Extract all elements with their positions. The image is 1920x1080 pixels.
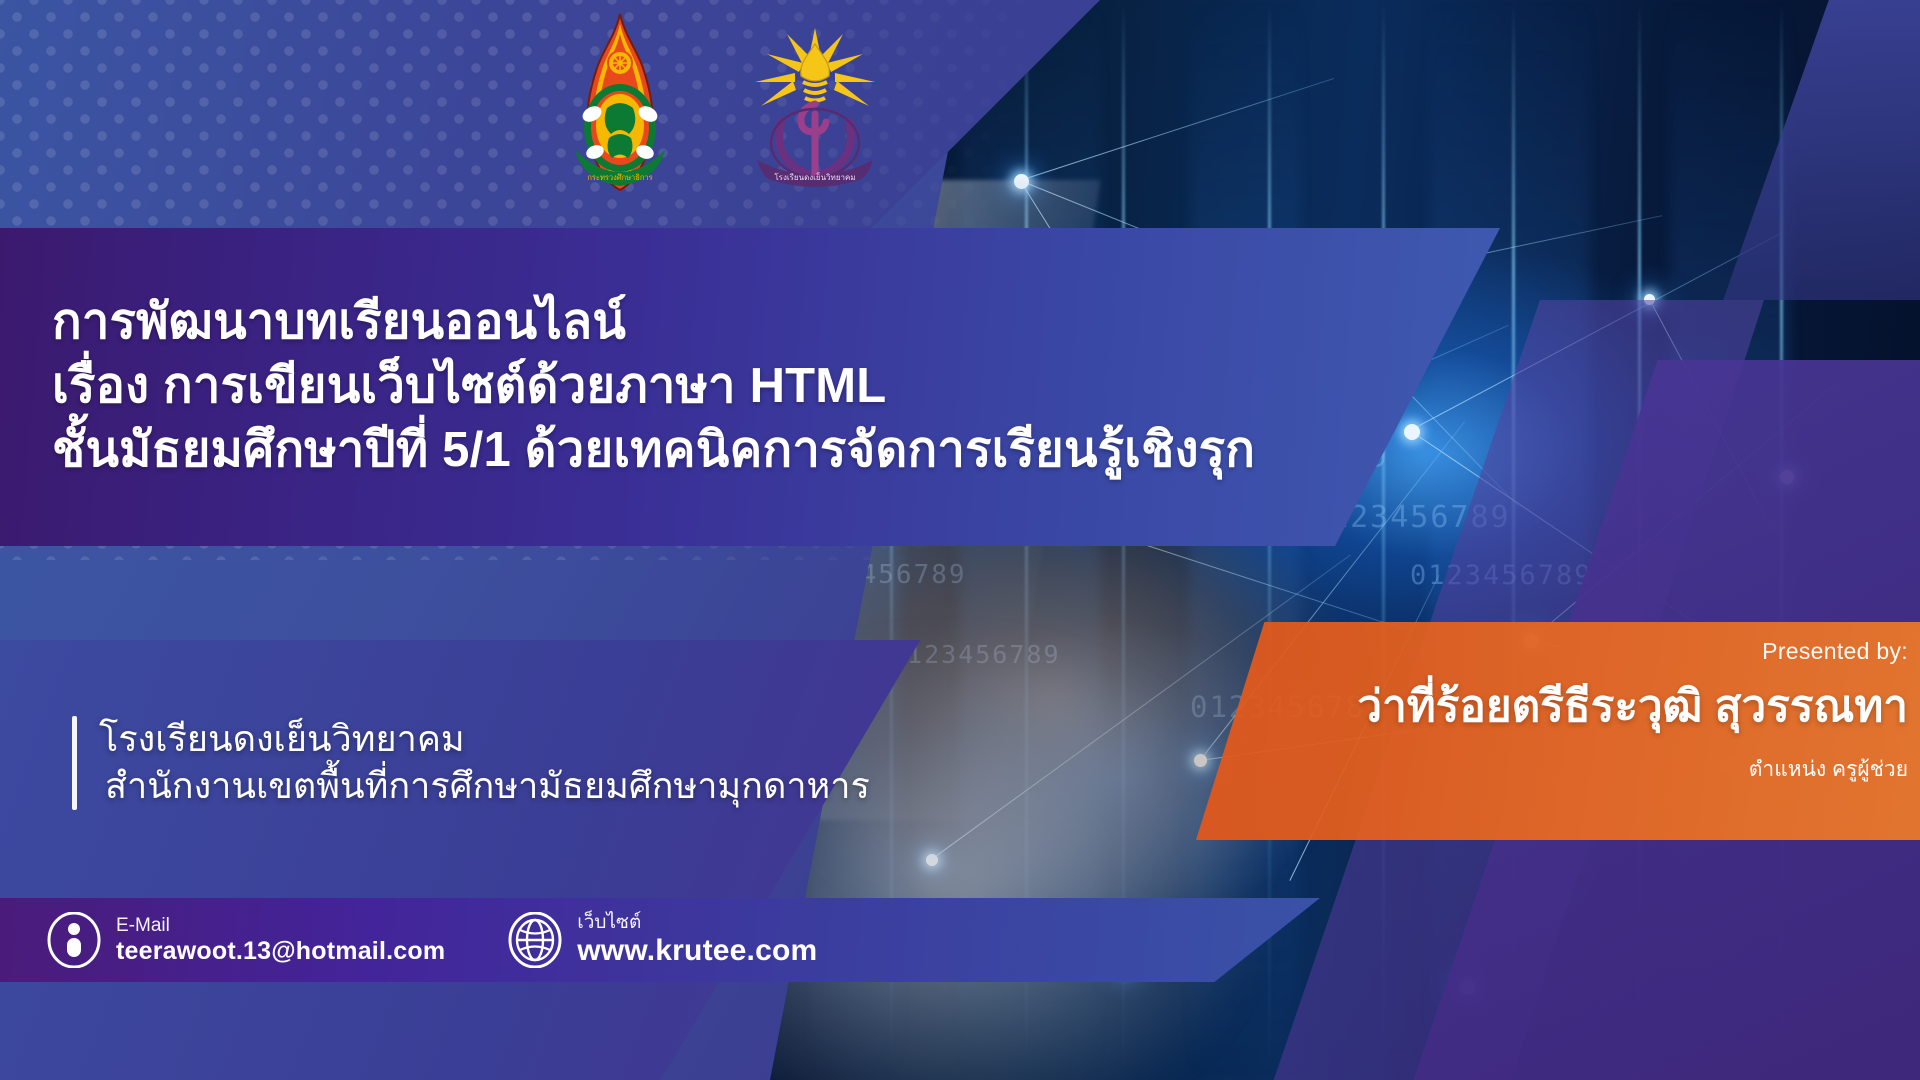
email-value[interactable]: teerawoot.13@hotmail.com bbox=[116, 937, 445, 966]
school-block: โรงเรียนดงเย็นวิทยาคม สำนักงานเขตพื้นที่… bbox=[72, 716, 870, 810]
email-label: E-Mail bbox=[116, 915, 445, 937]
school-emblem: โรงเรียนดงเย็นวิทยาคม bbox=[735, 10, 895, 190]
ministry-of-education-emblem: กระทรวงศึกษาธิการ bbox=[545, 10, 695, 195]
presenter-role: ตำแหน่ง ครูผู้ช่วย bbox=[1749, 753, 1908, 786]
school-office: สำนักงานเขตพื้นที่การศึกษามัธยมศึกษามุกด… bbox=[105, 763, 870, 810]
presenter-name: ว่าที่ร้อยตรีธีระวุฒิ สุวรรณทา bbox=[1357, 671, 1908, 741]
website-label: เว็บไซต์ bbox=[577, 912, 817, 934]
title-line-3: ชั้นมัธยมศึกษาปีที่ 5/1 ด้วยเทคนิคการจัด… bbox=[52, 419, 1500, 483]
school-accent-rule bbox=[72, 716, 77, 810]
poster-canvas: 0123456789 0123456789 0123456789 0123456… bbox=[0, 0, 1920, 1080]
school-name: โรงเรียนดงเย็นวิทยาคม bbox=[99, 716, 870, 763]
contact-website[interactable]: เว็บไซต์ www.krutee.com bbox=[507, 912, 817, 968]
title-line-2: เรื่อง การเขียนเว็บไซต์ด้วยภาษา HTML bbox=[52, 355, 1500, 419]
title-line-1: การพัฒนาบทเรียนออนไลน์ bbox=[52, 291, 1500, 355]
globe-icon bbox=[507, 912, 563, 968]
presented-by-label: Presented by: bbox=[1762, 638, 1908, 665]
website-value[interactable]: www.krutee.com bbox=[577, 934, 817, 969]
contact-bar: E-Mail teerawoot.13@hotmail.com เว็บไซต์… bbox=[0, 898, 1320, 982]
contact-email[interactable]: E-Mail teerawoot.13@hotmail.com bbox=[46, 912, 445, 968]
emblem-row: กระทรวงศึกษาธิการ bbox=[545, 10, 895, 195]
school-emblem-ribbon-text: โรงเรียนดงเย็นวิทยาคม bbox=[774, 172, 855, 182]
title-band: การพัฒนาบทเรียนออนไลน์ เรื่อง การเขียนเว… bbox=[0, 228, 1500, 546]
person-icon bbox=[46, 912, 102, 968]
presenter-panel: Presented by: ว่าที่ร้อยตรีธีระวุฒิ สุวร… bbox=[1196, 622, 1920, 840]
ministry-emblem-caption: กระทรวงศึกษาธิการ bbox=[587, 173, 652, 182]
